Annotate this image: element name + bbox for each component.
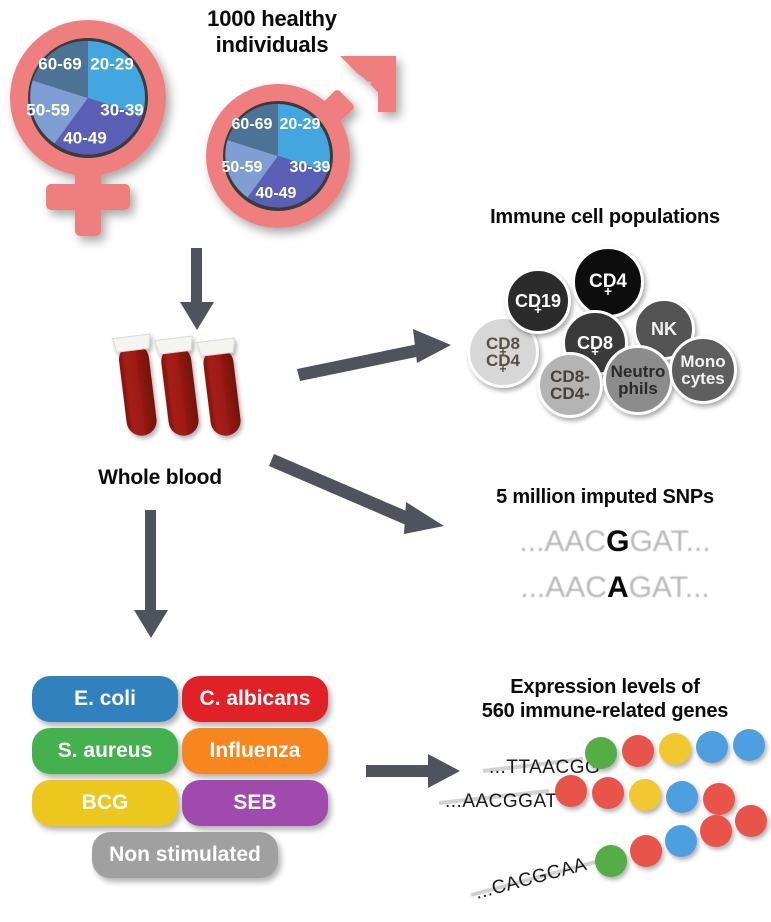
- snp-sequence-row-1: ...AACGGAT...: [470, 525, 760, 559]
- gene-bead: [595, 845, 627, 877]
- gene-sequence-text: ...AACGGAT: [445, 791, 557, 812]
- cell-label-line2: CD4+: [486, 352, 520, 369]
- gene-bead: [585, 737, 617, 769]
- pie-label-50-59: 50-59: [222, 159, 263, 176]
- title-line-1: 1000 healthy: [172, 6, 372, 32]
- stimulus-bcg[interactable]: BCG: [32, 780, 178, 826]
- arrow-down-to-blood: [178, 248, 218, 332]
- cell-label: NK: [651, 320, 677, 338]
- snp-suffix: GAT...: [629, 571, 710, 604]
- immune-cell-populations-group: CD8+ CD4+ CD19+ CD4+ NK CD8+ CD8- CD4- N…: [455, 240, 771, 425]
- snp-prefix: ...AAC: [519, 525, 606, 558]
- page-title: 1000 healthy individuals: [172, 6, 372, 58]
- arrow-to-immune-cells: [295, 325, 455, 381]
- gene-bead: [630, 835, 662, 867]
- stimulus-label: SEB: [233, 791, 276, 815]
- cell-label: CD8+: [577, 334, 613, 352]
- stimulus-label: E. coli: [74, 687, 136, 711]
- cell-label-line1: Mono: [680, 353, 725, 370]
- cell-label-line1: Neutro: [611, 363, 666, 380]
- cell-label: CD19+: [515, 292, 561, 310]
- pie-label-40-49: 40-49: [63, 128, 106, 147]
- stimulus-influenza[interactable]: Influenza: [182, 728, 328, 774]
- gene-sequence-text: ...CACGCAA: [473, 854, 589, 904]
- gene-bead: [733, 729, 765, 761]
- cell-label-line2: phils: [618, 380, 658, 397]
- cell-neutrophils: Neutro phils: [603, 345, 673, 415]
- cell-cd19: CD19+: [505, 268, 571, 334]
- snps-title: 5 million imputed SNPs: [440, 486, 770, 510]
- cell-cd8-cd4-double-negative: CD8- CD4-: [537, 352, 603, 418]
- gene-strand-3: ...CACGCAA: [447, 823, 747, 918]
- gene-bead: [622, 735, 654, 767]
- snp-sequence-row-2: ...AACAGAT...: [470, 571, 760, 605]
- gene-bead: [735, 805, 767, 837]
- stimulus-non-stimulated[interactable]: Non stimulated: [92, 832, 278, 878]
- cell-monocytes: Mono cytes: [669, 336, 737, 404]
- pie-label-60-69: 60-69: [232, 116, 273, 133]
- gene-strands-group: ...TTAACGG ...AACGGAT ...CACGCAA: [455, 735, 771, 915]
- gene-bead: [700, 815, 732, 847]
- stimulus-label: S. aureus: [58, 739, 153, 763]
- pie-label-40-49: 40-49: [256, 185, 297, 202]
- figure-canvas: 1000 healthy individuals: [0, 0, 771, 922]
- stimuli-panel: E. coli C. albicans S. aureus Influenza …: [32, 676, 342, 896]
- snp-variant-allele: A: [607, 571, 629, 604]
- blood-tubes-group: [108, 330, 278, 475]
- gene-bead: [703, 783, 735, 815]
- gene-bead: [665, 825, 697, 857]
- pie-label-20-29: 20-29: [280, 116, 321, 133]
- pie-label-20-29: 20-29: [90, 54, 133, 73]
- gene-bead: [659, 733, 691, 765]
- gene-bead: [592, 777, 624, 809]
- pie-label-30-39: 30-39: [100, 100, 143, 119]
- stimulus-label: C. albicans: [200, 687, 311, 711]
- expression-title-line-2: 560 immune-related genes: [440, 700, 770, 724]
- snp-prefix: ...AAC: [520, 571, 607, 604]
- cell-cd4: CD4+: [572, 246, 644, 318]
- tube-1: [112, 334, 162, 438]
- tube-2: [155, 336, 205, 438]
- tube-3: [197, 338, 246, 438]
- immune-cells-title: Immune cell populations: [440, 206, 770, 230]
- arrow-to-snps: [272, 448, 450, 540]
- expression-title: Expression levels of 560 immune-related …: [440, 676, 770, 723]
- female-symbol: 20-29 30-39 40-49 50-59 60-69: [6, 14, 202, 246]
- pie-label-30-39: 30-39: [290, 159, 331, 176]
- snp-suffix: GAT...: [629, 525, 710, 558]
- stimulus-e-coli[interactable]: E. coli: [32, 676, 178, 722]
- stimulus-label: Influenza: [209, 739, 300, 763]
- pie-label-50-59: 50-59: [26, 100, 69, 119]
- whole-blood-label: Whole blood: [60, 466, 260, 491]
- stimulus-label: BCG: [82, 791, 129, 815]
- snp-variant-allele: G: [606, 525, 629, 558]
- cell-label: CD4+: [589, 272, 627, 291]
- cell-label-line2: CD4-: [550, 385, 590, 402]
- stimulus-seb[interactable]: SEB: [182, 780, 328, 826]
- male-symbol: 20-29 30-39 40-49 50-59 60-69: [200, 52, 410, 242]
- stimulus-s-aureus[interactable]: S. aureus: [32, 728, 178, 774]
- gene-bead: [666, 781, 698, 813]
- gene-bead: [629, 779, 661, 811]
- cell-label-line1: CD8-: [550, 368, 590, 385]
- arrow-down-to-stimuli: [132, 510, 172, 640]
- gene-bead: [555, 775, 587, 807]
- snp-sequences-group: ...AACGGAT... ...AACAGAT...: [470, 525, 760, 615]
- stimulus-label: Non stimulated: [109, 843, 261, 867]
- expression-title-line-1: Expression levels of: [440, 676, 770, 700]
- cell-label-line1: CD8+: [486, 335, 520, 352]
- stimulus-c-albicans[interactable]: C. albicans: [182, 676, 328, 722]
- gene-bead: [696, 731, 728, 763]
- pie-label-60-69: 60-69: [38, 54, 81, 73]
- cell-label-line2: cytes: [681, 370, 724, 387]
